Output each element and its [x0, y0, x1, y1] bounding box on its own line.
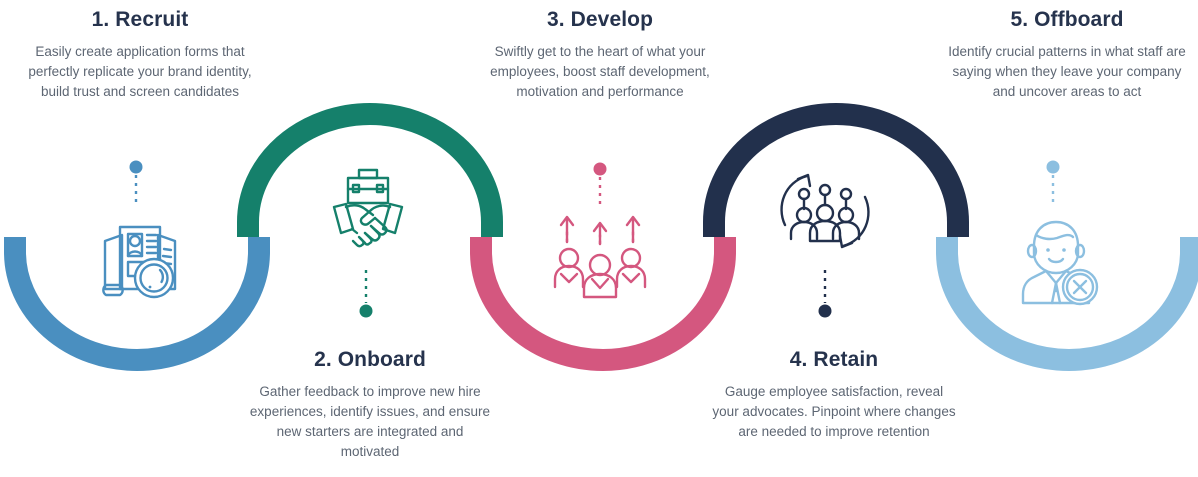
connector-onboard	[356, 270, 376, 318]
step-description-recruit: Easily create application forms that per…	[17, 42, 263, 102]
step-text-recruit: 1. Recruit Easily create application for…	[17, 8, 263, 102]
step-text-offboard: 5. Offboard Identify crucial patterns in…	[944, 8, 1190, 102]
people-network-cycle-icon	[777, 163, 873, 259]
step-text-retain: 4. Retain Gauge employee satisfaction, r…	[712, 348, 956, 442]
people-growth-arrows-icon	[552, 208, 648, 304]
step-description-offboard: Identify crucial patterns in what staff …	[944, 42, 1190, 102]
step-description-onboard: Gather feedback to improve new hire expe…	[247, 382, 493, 462]
step-title-offboard: 5. Offboard	[944, 8, 1190, 32]
step-title-recruit: 1. Recruit	[17, 8, 263, 32]
step-title-develop: 3. Develop	[478, 8, 722, 32]
lifecycle-diagram: 1. Recruit Easily create application for…	[0, 0, 1198, 477]
connector-dot-offboard	[1047, 161, 1060, 174]
connector-dot-retain	[819, 305, 832, 318]
connector-dot-onboard	[360, 305, 373, 318]
handshake-briefcase-icon	[320, 163, 416, 259]
connector-dot-recruit	[130, 161, 143, 174]
connector-recruit	[126, 160, 146, 206]
connector-retain	[815, 270, 835, 318]
step-text-onboard: 2. Onboard Gather feedback to improve ne…	[247, 348, 493, 462]
connector-dot-develop	[594, 163, 607, 176]
step-description-develop: Swiftly get to the heart of what your em…	[478, 42, 722, 102]
employee-remove-x-icon	[1008, 213, 1104, 309]
step-description-retain: Gauge employee satisfaction, reveal your…	[712, 382, 956, 442]
resume-documents-magnifier-icon	[92, 213, 188, 309]
connector-offboard	[1043, 160, 1063, 206]
step-title-onboard: 2. Onboard	[247, 348, 493, 372]
step-text-develop: 3. Develop Swiftly get to the heart of w…	[478, 8, 722, 102]
step-title-retain: 4. Retain	[712, 348, 956, 372]
connector-develop	[590, 162, 610, 208]
